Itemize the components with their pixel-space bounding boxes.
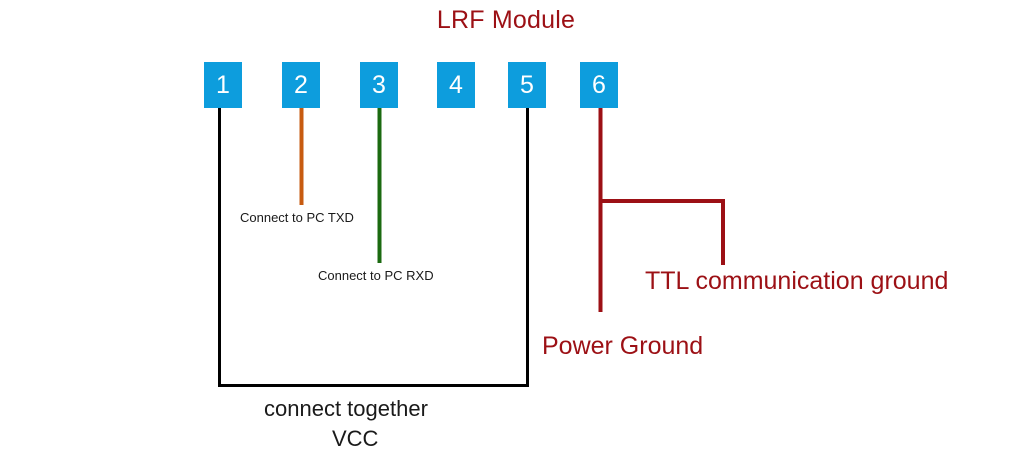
lrf-module-pinout-diagram: LRF Module 1 2 3 4 5 6 Connect to PC TXD…: [0, 0, 1012, 470]
annotation-pc-txd: Connect to PC TXD: [240, 210, 354, 225]
pin-label-4: 4: [449, 71, 463, 99]
pin-box-6[interactable]: 6: [580, 62, 618, 108]
annotation-pc-rxd: Connect to PC RXD: [318, 268, 434, 283]
pin-label-1: 1: [216, 71, 230, 99]
annotation-connect-together: connect together: [264, 396, 428, 422]
wire-pin6-ttl-branch: [600, 201, 723, 265]
page-title: LRF Module: [0, 6, 1012, 35]
pin-box-3[interactable]: 3: [360, 62, 398, 108]
pin-label-2: 2: [294, 71, 308, 99]
annotation-vcc: VCC: [332, 426, 378, 452]
pin-box-1[interactable]: 1: [204, 62, 242, 108]
wire-vcc-bracket: [220, 107, 528, 386]
annotation-ttl-communication-ground: TTL communication ground: [645, 267, 948, 296]
pin-box-5[interactable]: 5: [508, 62, 546, 108]
pin-label-6: 6: [592, 71, 606, 99]
pin-label-3: 3: [372, 71, 386, 99]
pin-box-4[interactable]: 4: [437, 62, 475, 108]
pin-box-2[interactable]: 2: [282, 62, 320, 108]
pin-label-5: 5: [520, 71, 534, 99]
wire-layer: [0, 0, 1012, 470]
annotation-power-ground: Power Ground: [542, 332, 703, 361]
